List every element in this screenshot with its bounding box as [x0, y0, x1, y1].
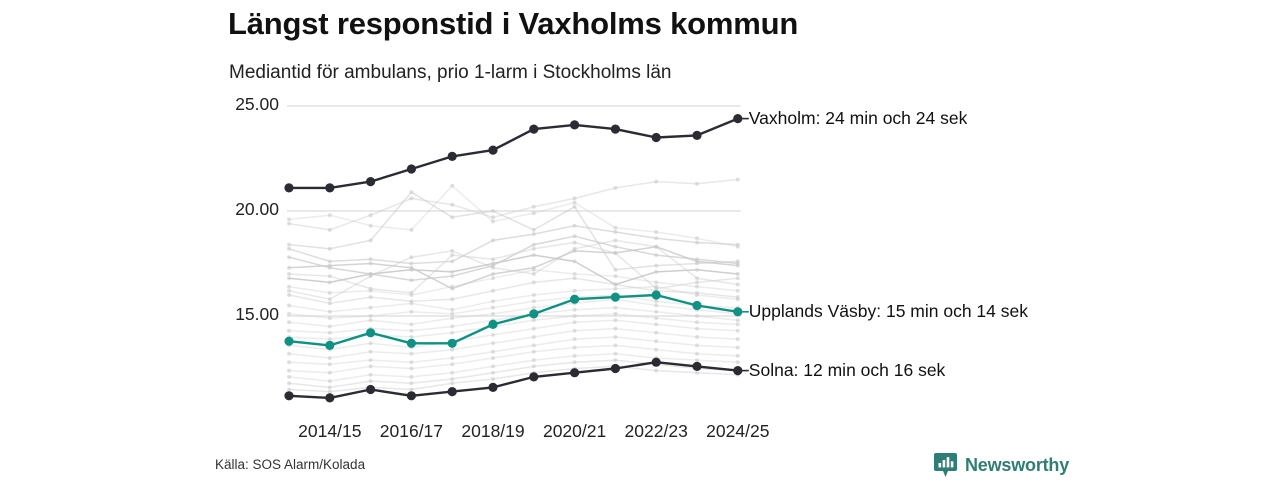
series-point	[450, 253, 454, 257]
series-point	[529, 372, 538, 381]
series-point	[369, 295, 373, 299]
series-point	[409, 367, 413, 371]
series-end-label: Solna: 12 min och 16 sek	[749, 360, 946, 381]
series-point	[448, 152, 457, 161]
series-point	[692, 131, 701, 140]
series-point	[366, 385, 375, 394]
series-point	[613, 226, 617, 230]
series-point	[328, 385, 332, 389]
series-point	[450, 371, 454, 375]
series-point	[695, 285, 699, 289]
series-point	[369, 306, 373, 310]
series-point	[654, 369, 658, 373]
series-point	[488, 383, 497, 392]
series-point	[654, 348, 658, 352]
series-point	[328, 228, 332, 232]
series-point	[491, 276, 495, 280]
series-point	[409, 278, 413, 282]
series-point	[491, 262, 495, 266]
series-point	[736, 354, 740, 358]
series-point	[654, 180, 658, 184]
series-point	[613, 230, 617, 234]
series-point	[287, 247, 291, 251]
series-point	[692, 362, 701, 371]
series-point	[328, 274, 332, 278]
series-point	[695, 276, 699, 280]
series-point	[409, 388, 413, 392]
series-point	[613, 287, 617, 291]
series-point	[695, 314, 699, 318]
series-point	[369, 379, 373, 383]
series-point	[532, 335, 536, 339]
series-point	[532, 253, 536, 257]
series-point	[532, 364, 536, 368]
series-line	[289, 354, 738, 381]
series-point	[695, 182, 699, 186]
y-axis-tick-label: 25.00	[193, 94, 279, 115]
series-point	[611, 125, 620, 134]
series-point	[328, 264, 332, 268]
series-point	[488, 146, 497, 155]
series-point	[573, 201, 577, 205]
x-axis-tick-label: 2024/25	[706, 421, 769, 442]
series-point	[287, 375, 291, 379]
series-point	[287, 266, 291, 270]
series-line	[289, 247, 738, 289]
series-point	[366, 177, 375, 186]
series-point	[287, 243, 291, 247]
series-point	[409, 262, 413, 266]
x-axis-tick-label: 2020/21	[543, 421, 606, 442]
series-point	[409, 375, 413, 379]
series-point	[654, 280, 658, 284]
series-point	[328, 337, 332, 341]
series-point	[573, 320, 577, 324]
x-axis-tick-label: 2018/19	[461, 421, 524, 442]
series-point	[736, 329, 740, 333]
series-point	[369, 224, 373, 228]
series-point	[450, 312, 454, 316]
series-point	[654, 316, 658, 320]
series-point	[448, 339, 457, 348]
series-point	[654, 236, 658, 240]
series-point	[692, 301, 701, 310]
series-point	[450, 316, 454, 320]
series-point	[450, 259, 454, 263]
series-point	[532, 318, 536, 322]
series-point	[450, 308, 454, 312]
series-point	[532, 272, 536, 276]
series-point	[736, 322, 740, 326]
series-point	[328, 247, 332, 251]
series-point	[695, 327, 699, 331]
series-point	[450, 331, 454, 335]
series-point	[369, 318, 373, 322]
source-note: Källa: SOS Alarm/Kolada	[215, 457, 365, 472]
series-point	[328, 301, 332, 305]
series-point	[695, 371, 699, 375]
series-point	[736, 283, 740, 287]
series-point	[532, 299, 536, 303]
series-point	[573, 205, 577, 209]
series-point	[450, 377, 454, 381]
series-point	[369, 287, 373, 291]
series-point	[573, 241, 577, 245]
series-point	[328, 280, 332, 284]
series-point	[573, 276, 577, 280]
series-point	[613, 327, 617, 331]
series-point	[328, 316, 332, 320]
series-point	[736, 272, 740, 276]
series-point	[613, 186, 617, 190]
series-point	[287, 360, 291, 364]
series-point	[328, 331, 332, 335]
series-point	[654, 264, 658, 268]
series-point	[491, 289, 495, 293]
series-point	[409, 335, 413, 339]
series-point	[654, 339, 658, 343]
series-point	[532, 358, 536, 362]
series-point	[409, 196, 413, 200]
x-axis-tick-label: 2022/23	[625, 421, 688, 442]
series-point	[284, 183, 293, 192]
series-point	[491, 364, 495, 368]
series-point	[532, 343, 536, 347]
series-point	[532, 306, 536, 310]
series-point	[736, 289, 740, 293]
series-point	[450, 297, 454, 301]
series-line	[289, 119, 738, 188]
series-point	[654, 245, 658, 249]
series-point	[369, 350, 373, 354]
series-point	[287, 304, 291, 308]
newsworthy-logo: Newsworthy	[933, 452, 1069, 479]
series-point	[409, 329, 413, 333]
series-point	[369, 257, 373, 261]
series-point	[407, 164, 416, 173]
series-point	[328, 310, 332, 314]
series-line	[289, 362, 738, 398]
series-point	[491, 341, 495, 345]
series-point	[491, 377, 495, 381]
x-axis-tick-label: 2016/17	[380, 421, 443, 442]
series-point	[695, 320, 699, 324]
series-point	[613, 251, 617, 255]
series-point	[573, 337, 577, 341]
series-point	[287, 329, 291, 333]
series-point	[450, 381, 454, 385]
series-point	[450, 362, 454, 366]
series-point	[613, 312, 617, 316]
series-point	[695, 236, 699, 240]
series-point	[736, 243, 740, 247]
series-point	[654, 310, 658, 314]
series-point	[570, 368, 579, 377]
series-point	[325, 393, 334, 402]
series-point	[652, 358, 661, 367]
series-point	[369, 262, 373, 266]
series-point	[491, 350, 495, 354]
series-point	[491, 220, 495, 224]
series-point	[409, 310, 413, 314]
series-point	[328, 297, 332, 301]
series-point	[328, 379, 332, 383]
series-point	[654, 322, 658, 326]
series-point	[736, 264, 740, 268]
series-point	[736, 276, 740, 280]
series-point	[328, 213, 332, 217]
series-point	[450, 356, 454, 360]
series-point	[448, 387, 457, 396]
series-point	[328, 371, 332, 375]
series-end-label: Vaxholm: 24 min och 24 sek	[749, 108, 968, 129]
series-point	[287, 381, 291, 385]
series-point	[409, 322, 413, 326]
series-point	[613, 343, 617, 347]
series-point	[532, 293, 536, 297]
series-point	[736, 337, 740, 341]
series-point	[736, 346, 740, 350]
series-point	[409, 268, 413, 272]
series-point	[369, 238, 373, 242]
series-point	[328, 356, 332, 360]
series-point	[287, 222, 291, 226]
series-point	[529, 125, 538, 134]
series-point	[573, 196, 577, 200]
series-point	[369, 364, 373, 368]
series-point	[491, 333, 495, 337]
series-point	[695, 352, 699, 356]
series-point	[573, 259, 577, 263]
series-point	[409, 352, 413, 356]
series-point	[611, 364, 620, 373]
series-point	[409, 255, 413, 259]
series-point	[570, 120, 579, 129]
series-point	[613, 238, 617, 242]
series-point	[328, 259, 332, 263]
series-point	[328, 291, 332, 295]
series-point	[613, 352, 617, 356]
series-point	[573, 354, 577, 358]
series-point	[450, 203, 454, 207]
series-point	[287, 293, 291, 297]
series-point	[736, 360, 740, 364]
series-point	[450, 348, 454, 352]
series-point	[409, 228, 413, 232]
y-axis-tick-label: 15.00	[193, 304, 279, 325]
series-point	[409, 360, 413, 364]
series-point	[613, 283, 617, 287]
series-point	[613, 358, 617, 362]
series-point	[532, 327, 536, 331]
series-point	[654, 304, 658, 308]
series-point	[573, 346, 577, 350]
series-point	[488, 320, 497, 329]
series-point	[532, 232, 536, 236]
series-point	[328, 390, 332, 394]
series-point	[328, 325, 332, 329]
series-point	[409, 301, 413, 305]
series-point	[287, 369, 291, 373]
series-point	[652, 290, 661, 299]
series-point	[613, 335, 617, 339]
series-point	[287, 276, 291, 280]
series-point	[409, 190, 413, 194]
series-point	[532, 205, 536, 209]
series-point	[695, 293, 699, 297]
background-series-group	[287, 178, 740, 394]
series-point	[695, 358, 699, 362]
series-point	[695, 335, 699, 339]
series-point	[532, 350, 536, 354]
series-point	[573, 247, 577, 251]
series-point	[491, 306, 495, 310]
series-point	[491, 299, 495, 303]
series-point	[695, 268, 699, 272]
series-point	[611, 293, 620, 302]
series-point	[532, 228, 536, 232]
series-point	[287, 312, 291, 316]
series-point	[287, 255, 291, 259]
series-point	[491, 312, 495, 316]
series-point	[613, 245, 617, 249]
series-point	[287, 388, 291, 392]
series-point	[532, 280, 536, 284]
series-point	[695, 280, 699, 284]
bar-chart-pin-icon	[933, 452, 958, 479]
series-point	[736, 178, 740, 182]
series-point	[570, 295, 579, 304]
series-point	[613, 318, 617, 322]
series-point	[366, 328, 375, 337]
series-point	[369, 213, 373, 217]
series-point	[287, 289, 291, 293]
series-point	[491, 272, 495, 276]
x-axis-tick-label: 2014/15	[298, 421, 361, 442]
series-point	[695, 343, 699, 347]
series-point	[369, 314, 373, 318]
series-point	[325, 183, 334, 192]
series-point	[695, 259, 699, 263]
series-point	[491, 209, 495, 213]
series-point	[532, 243, 536, 247]
series-point	[409, 291, 413, 295]
y-axis-tick-label: 20.00	[193, 199, 279, 220]
series-point	[613, 306, 617, 310]
logo-wordmark: Newsworthy	[965, 455, 1069, 476]
line-chart-canvas	[0, 0, 1280, 480]
series-point	[369, 341, 373, 345]
series-end-label: Upplands Väsby: 15 min och 14 sek	[749, 301, 1028, 322]
series-point	[284, 337, 293, 346]
series-point	[532, 211, 536, 215]
series-point	[409, 381, 413, 385]
series-point	[573, 360, 577, 364]
series-point	[450, 274, 454, 278]
series-point	[287, 285, 291, 289]
series-line	[289, 240, 738, 299]
series-point	[654, 230, 658, 234]
series-point	[736, 297, 740, 301]
series-point	[652, 133, 661, 142]
series-point	[573, 308, 577, 312]
series-point	[573, 272, 577, 276]
series-point	[573, 314, 577, 318]
series-point	[491, 238, 495, 242]
series-point	[287, 272, 291, 276]
series-point	[450, 184, 454, 188]
series-point	[287, 320, 291, 324]
series-point	[491, 257, 495, 261]
series-point	[529, 309, 538, 318]
series-point	[654, 270, 658, 274]
series-point	[287, 352, 291, 356]
series-point	[573, 234, 577, 238]
series-point	[491, 215, 495, 219]
series-point	[491, 371, 495, 375]
series-point	[532, 268, 536, 272]
series-point	[613, 268, 617, 272]
series-point	[654, 253, 658, 257]
series-line	[289, 243, 738, 293]
series-point	[491, 266, 495, 270]
series-point	[654, 331, 658, 335]
series-point	[736, 318, 740, 322]
series-point	[573, 289, 577, 293]
series-point	[369, 358, 373, 362]
series-point	[450, 325, 454, 329]
series-point	[407, 339, 416, 348]
series-point	[287, 217, 291, 221]
series-point	[450, 249, 454, 253]
series-point	[369, 274, 373, 278]
series-point	[284, 391, 293, 400]
series-point	[695, 241, 699, 245]
series-point	[450, 215, 454, 219]
series-point	[325, 341, 334, 350]
series-point	[491, 356, 495, 360]
series-point	[654, 299, 658, 303]
series-point	[532, 247, 536, 251]
series-point	[613, 274, 617, 278]
series-point	[654, 287, 658, 291]
series-point	[450, 270, 454, 274]
series-point	[450, 285, 454, 289]
series-point	[369, 373, 373, 377]
series-point	[407, 391, 416, 400]
series-point	[573, 224, 577, 228]
series-point	[328, 362, 332, 366]
series-point	[573, 329, 577, 333]
